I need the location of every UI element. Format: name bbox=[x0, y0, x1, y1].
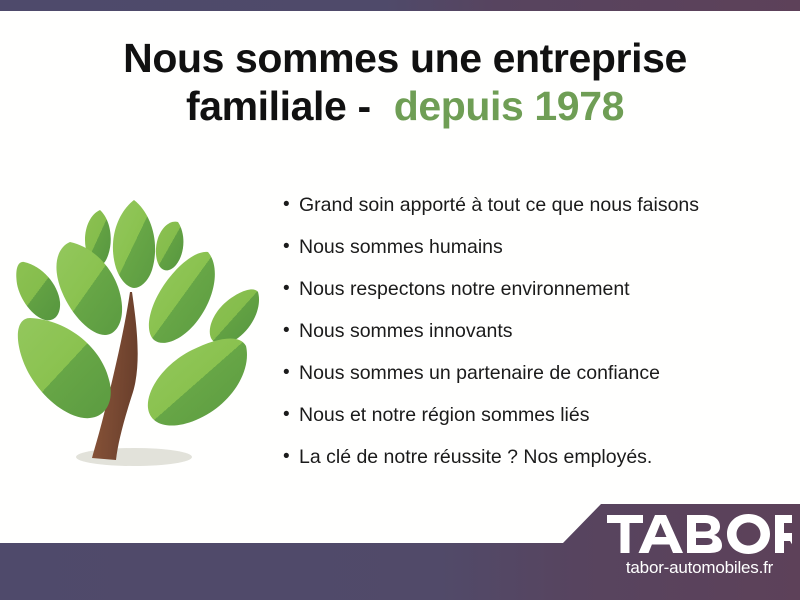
bullet-marker-icon: • bbox=[283, 193, 299, 217]
value-bullet-list: • Grand soin apporté à tout ce que nous … bbox=[283, 193, 773, 487]
list-item-label: Nous sommes un partenaire de confiance bbox=[299, 361, 660, 385]
list-item: • Grand soin apporté à tout ce que nous … bbox=[283, 193, 773, 235]
tabor-wordmark-icon bbox=[607, 512, 792, 556]
list-item-label: Nous sommes innovants bbox=[299, 319, 513, 343]
brand-logo: tabor-automobiles.fr bbox=[607, 512, 792, 588]
tree-icon bbox=[12, 192, 268, 488]
list-item-label: Nous sommes humains bbox=[299, 235, 503, 259]
list-item-label: Nous respectons notre environnement bbox=[299, 277, 630, 301]
top-accent-bar bbox=[0, 0, 800, 11]
logo-url-label: tabor-automobiles.fr bbox=[607, 558, 792, 578]
list-item: • Nous sommes innovants bbox=[283, 319, 773, 361]
bullet-marker-icon: • bbox=[283, 319, 299, 343]
list-item: • La clé de notre réussite ? Nos employé… bbox=[283, 445, 773, 487]
bullet-marker-icon: • bbox=[283, 277, 299, 301]
list-item: • Nous sommes humains bbox=[283, 235, 773, 277]
title-line-2-plain: familiale - bbox=[186, 83, 382, 129]
list-item: • Nous et notre région sommes liés bbox=[283, 403, 773, 445]
list-item-label: Grand soin apporté à tout ce que nous fa… bbox=[299, 193, 699, 217]
title-line-2: familiale - depuis 1978 bbox=[60, 82, 750, 130]
list-item: • Nous respectons notre environnement bbox=[283, 277, 773, 319]
slide-canvas: Nous sommes une entreprise familiale - d… bbox=[0, 0, 800, 600]
bullet-marker-icon: • bbox=[283, 445, 299, 469]
bullet-marker-icon: • bbox=[283, 403, 299, 427]
bullet-marker-icon: • bbox=[283, 235, 299, 259]
tree-leaves bbox=[16, 200, 259, 426]
title-accent: depuis 1978 bbox=[394, 83, 624, 129]
bullet-marker-icon: • bbox=[283, 361, 299, 385]
title-line-1: Nous sommes une entreprise bbox=[60, 34, 750, 82]
list-item: • Nous sommes un partenaire de confiance bbox=[283, 361, 773, 403]
list-item-label: La clé de notre réussite ? Nos employés. bbox=[299, 445, 652, 469]
list-item-label: Nous et notre région sommes liés bbox=[299, 403, 589, 427]
page-title: Nous sommes une entreprise familiale - d… bbox=[60, 34, 750, 131]
